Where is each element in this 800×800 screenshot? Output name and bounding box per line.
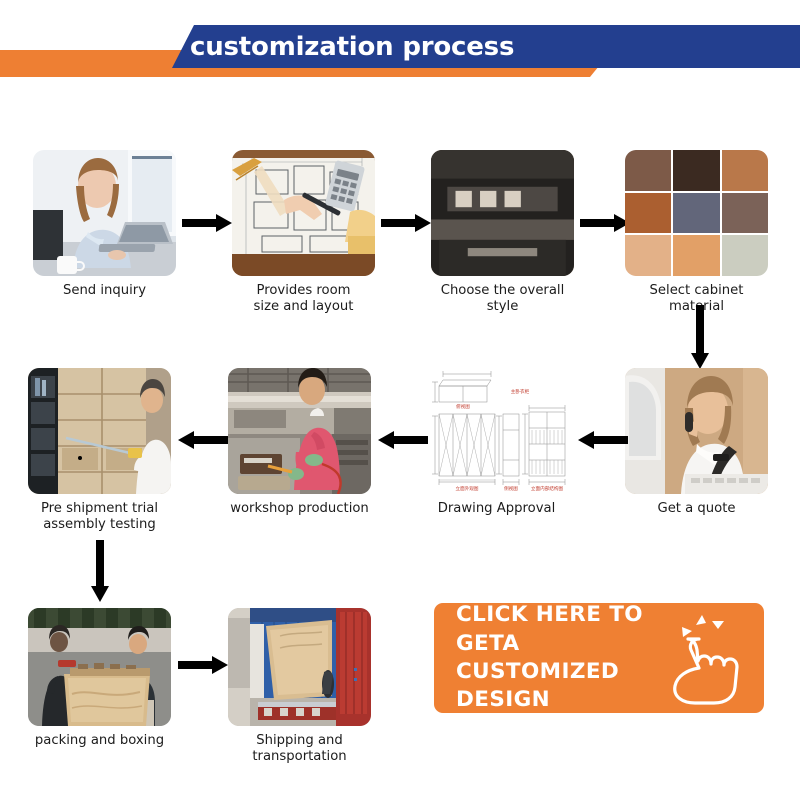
svg-text:主卧衣柜: 主卧衣柜 bbox=[511, 388, 530, 395]
page-title: customization process bbox=[190, 25, 514, 68]
step-packing-and-boxing[interactable]: packing and boxing bbox=[28, 608, 171, 749]
svg-text:立面外观图: 立面外观图 bbox=[456, 485, 479, 492]
step-send-inquiry-image bbox=[33, 150, 176, 276]
step-drawing-approval-label: Drawing Approval bbox=[425, 501, 568, 517]
step-pre-shipment-trial-label: Pre shipment trial assembly testing bbox=[28, 501, 171, 532]
step-pre-shipment-trial[interactable]: Pre shipment trial assembly testing bbox=[28, 368, 171, 532]
step-pre-shipment-trial-image bbox=[28, 368, 171, 494]
svg-text:俯视图: 俯视图 bbox=[456, 403, 470, 410]
material-swatch-2 bbox=[673, 150, 719, 191]
style-grid bbox=[431, 150, 574, 276]
step-workshop-production[interactable]: workshop production bbox=[228, 368, 371, 517]
step-select-material-image bbox=[625, 150, 768, 276]
step-workshop-production-label: workshop production bbox=[228, 501, 371, 517]
arrow-left-3 bbox=[178, 430, 228, 450]
step-choose-style-label: Choose the overall style bbox=[431, 283, 574, 314]
step-drawing-approval[interactable]: 俯视图 主卧衣柜 立面外观图 侧视图 立面内部结构图 Drawing Appro… bbox=[425, 368, 568, 517]
step-get-a-quote-label: Get a quote bbox=[625, 501, 768, 517]
step-provides-room-size-label: Provides room size and layout bbox=[232, 283, 375, 314]
cta-customized-design-button[interactable]: CLICK HERE TO GETA CUSTOMIZED DESIGN bbox=[434, 603, 764, 713]
arrow-right-4 bbox=[178, 655, 228, 675]
click-hand-icon bbox=[652, 615, 748, 705]
step-shipping-transport-image bbox=[228, 608, 371, 726]
arrow-down-right bbox=[690, 305, 710, 369]
step-choose-style-image bbox=[431, 150, 574, 276]
step-get-a-quote[interactable]: Get a quote bbox=[625, 368, 768, 517]
step-choose-style[interactable]: Choose the overall style bbox=[431, 150, 574, 314]
material-swatch-8 bbox=[673, 235, 719, 276]
step-provides-room-size-image bbox=[232, 150, 375, 276]
cta-label: CLICK HERE TO GETA CUSTOMIZED DESIGN bbox=[456, 601, 684, 715]
material-swatch-4 bbox=[625, 193, 671, 234]
material-swatch-5 bbox=[673, 193, 719, 234]
arrow-right-3 bbox=[580, 213, 630, 233]
customization-process-infographic: customization process bbox=[0, 0, 800, 800]
material-swatch-9 bbox=[722, 235, 768, 276]
material-swatch-6 bbox=[722, 193, 768, 234]
arrow-left-1 bbox=[578, 430, 628, 450]
step-send-inquiry-label: Send inquiry bbox=[33, 283, 176, 299]
step-provides-room-size[interactable]: Provides room size and layout bbox=[232, 150, 375, 314]
style-tile-4 bbox=[504, 214, 575, 276]
step-drawing-approval-image: 俯视图 主卧衣柜 立面外观图 侧视图 立面内部结构图 bbox=[425, 368, 568, 494]
header-banner: customization process bbox=[0, 0, 800, 90]
step-workshop-production-image bbox=[228, 368, 371, 494]
step-select-material[interactable]: Select cabinet material bbox=[625, 150, 768, 314]
material-swatch-7 bbox=[625, 235, 671, 276]
step-get-a-quote-image bbox=[625, 368, 768, 494]
material-swatch-grid bbox=[625, 150, 768, 276]
material-swatch-1 bbox=[625, 150, 671, 191]
arrow-down-left bbox=[90, 540, 110, 602]
arrow-right-2 bbox=[381, 213, 431, 233]
svg-text:立面内部结构图: 立面内部结构图 bbox=[531, 485, 564, 492]
material-swatch-3 bbox=[722, 150, 768, 191]
svg-text:侧视图: 侧视图 bbox=[504, 485, 518, 492]
step-packing-and-boxing-image bbox=[28, 608, 171, 726]
arrow-left-2 bbox=[378, 430, 428, 450]
arrow-right-1 bbox=[182, 213, 232, 233]
step-packing-and-boxing-label: packing and boxing bbox=[28, 733, 171, 749]
step-send-inquiry[interactable]: Send inquiry bbox=[33, 150, 176, 299]
step-shipping-transport-label: Shipping and transportation bbox=[228, 733, 371, 764]
step-shipping-transport[interactable]: Shipping and transportation bbox=[228, 608, 371, 764]
